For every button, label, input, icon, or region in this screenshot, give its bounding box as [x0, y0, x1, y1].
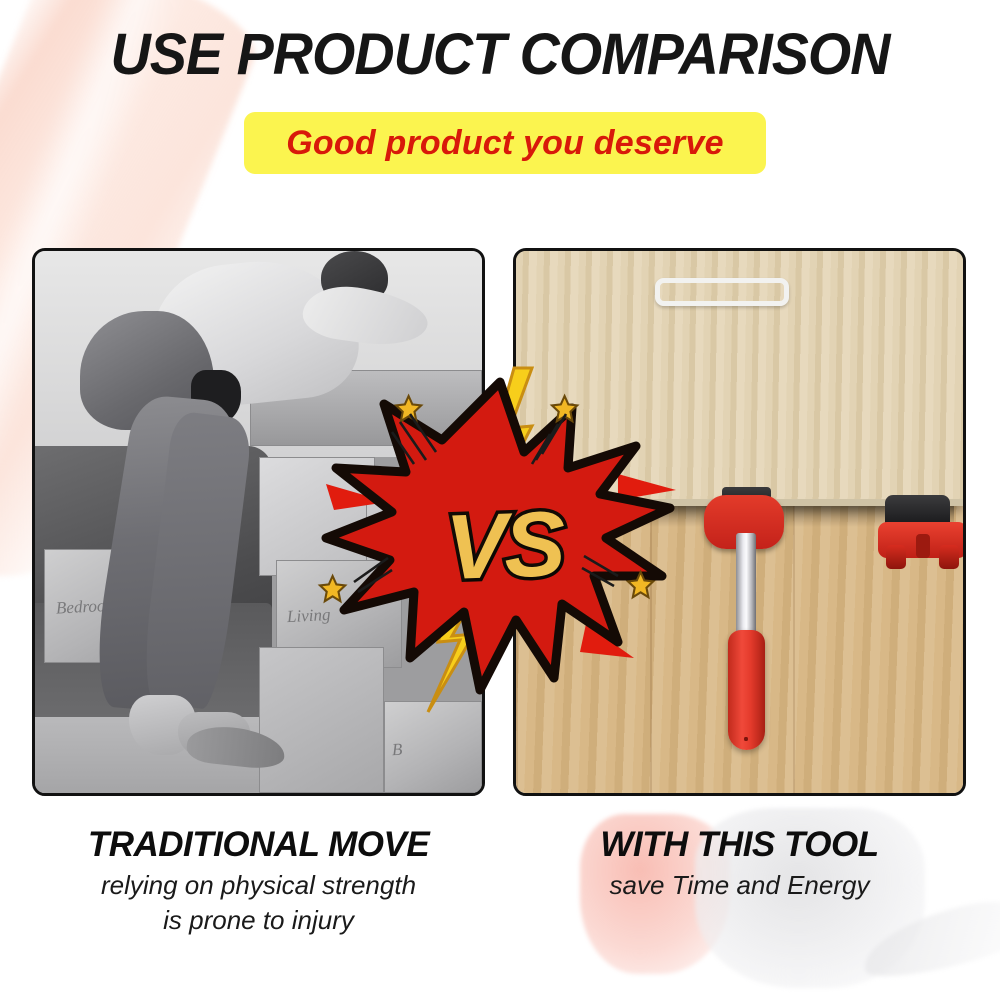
subtitle-highlight-box: Good product you deserve	[244, 112, 766, 174]
subtitle-text: Good product you deserve	[286, 124, 723, 163]
photo-furniture-handle	[655, 278, 789, 305]
vs-badge: VS	[318, 360, 682, 720]
roller-wheel-left	[886, 545, 906, 569]
caption-left-line1: relying on physical strength	[32, 870, 485, 901]
caption-left-line2: is prone to injury	[32, 905, 485, 936]
box-label-b: B	[392, 739, 403, 760]
ghost-blob-tail	[856, 889, 1000, 987]
caption-traditional: TRADITIONAL MOVE relying on physical str…	[32, 824, 485, 936]
roller-notch	[916, 534, 930, 558]
tool-roller-slider	[878, 495, 966, 565]
caption-left-title: TRADITIONAL MOVE	[32, 824, 485, 866]
tool-lifter-grip	[728, 630, 765, 749]
caption-tool: WITH THIS TOOL save Time and Energy	[513, 824, 966, 901]
roller-wheel-right	[939, 545, 959, 569]
page-title: USE PRODUCT COMPARISON	[20, 24, 980, 86]
caption-right-title: WITH THIS TOOL	[513, 824, 966, 866]
vs-label: VS	[316, 360, 692, 732]
caption-right-line1: save Time and Energy	[513, 870, 966, 901]
